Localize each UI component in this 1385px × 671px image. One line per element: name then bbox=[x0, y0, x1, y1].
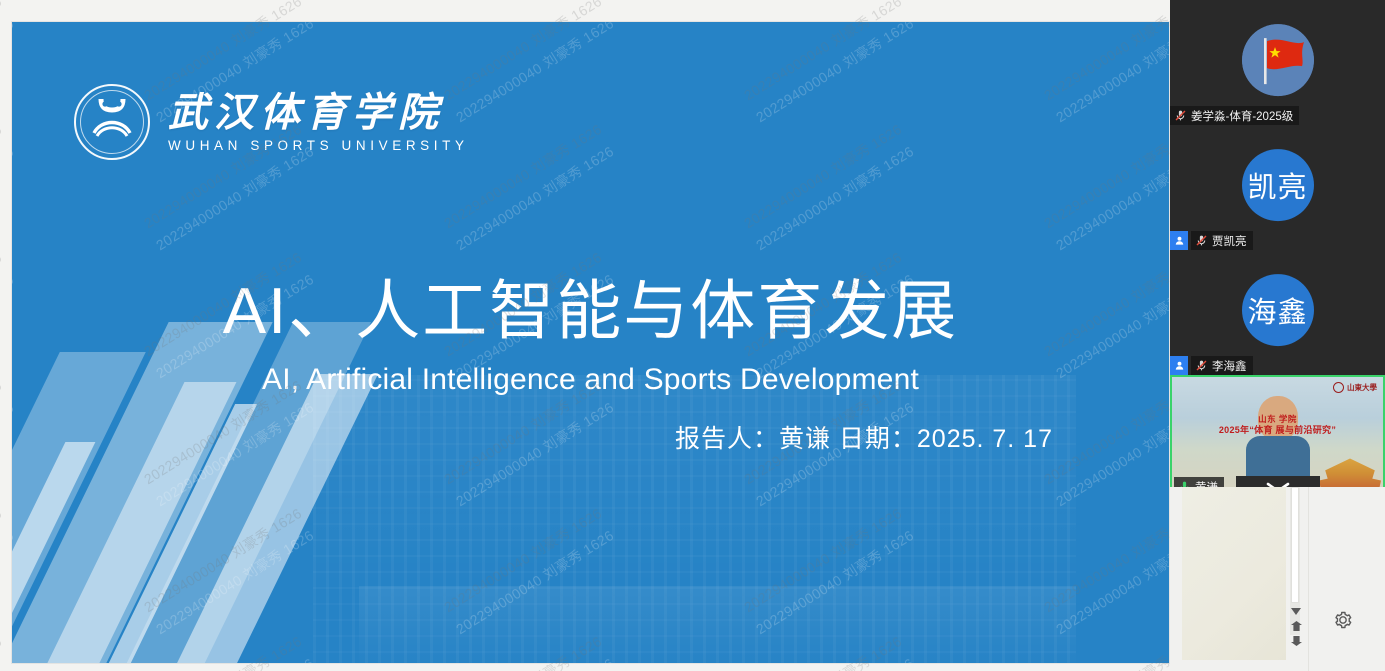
participant-name: 李海鑫 bbox=[1212, 358, 1247, 374]
person-badge-icon bbox=[1170, 356, 1188, 375]
document-preview-strip[interactable] bbox=[1182, 487, 1286, 660]
settings-button[interactable] bbox=[1330, 607, 1356, 633]
avatar-initials: 凯亮 bbox=[1247, 164, 1307, 206]
scroll-down-button[interactable] bbox=[1290, 605, 1303, 617]
participant-name-chip: 姜学淼-体育-2025级 bbox=[1170, 106, 1299, 125]
scroll-down-icon bbox=[1290, 607, 1302, 616]
participant-tile[interactable]: 凯亮 贾凯亮 bbox=[1170, 125, 1385, 250]
shared-content-stage[interactable]: 武汉体育学院 WUHAN SPORTS UNIVERSITY AI、人工智能与体… bbox=[0, 0, 1170, 671]
slide-subtitle: AI, Artificial Intelligence and Sports D… bbox=[12, 363, 1169, 397]
participant-name-bar: 李海鑫 bbox=[1170, 356, 1253, 375]
user-avatar-icon: 海鑫 bbox=[1242, 274, 1314, 346]
participant-name-bar: 姜学淼-体育-2025级 bbox=[1170, 106, 1299, 125]
slide-title-block: AI、人工智能与体育发展 AI, Artificial Intelligence… bbox=[12, 274, 1169, 455]
watermark-text: 202294000040 刘豪秀 1626 bbox=[0, 631, 6, 671]
video-logo-text: 山東大學 bbox=[1347, 382, 1377, 393]
shandong-university-logo: 山東大學 bbox=[1333, 382, 1377, 393]
presentation-slide[interactable]: 武汉体育学院 WUHAN SPORTS UNIVERSITY AI、人工智能与体… bbox=[12, 22, 1169, 663]
rail-lower-panel bbox=[1170, 487, 1385, 671]
university-name-en: WUHAN SPORTS UNIVERSITY bbox=[168, 138, 469, 153]
scrollbar-thumb[interactable] bbox=[1291, 487, 1299, 603]
watermark-text: 202294000040 刘豪秀 1626 bbox=[1052, 141, 1169, 255]
scroll-up-icon bbox=[1290, 620, 1303, 632]
watermark-text: 202294000040 刘豪秀 1626 bbox=[0, 503, 6, 617]
watermark-text: 202294000040 刘豪秀 1626 bbox=[752, 141, 918, 255]
watermark-text: 202294000040 刘豪秀 1626 bbox=[752, 22, 918, 127]
university-seal-icon bbox=[74, 84, 150, 160]
university-logo: 武汉体育学院 WUHAN SPORTS UNIVERSITY bbox=[74, 84, 469, 160]
participant-rail[interactable]: 姜学淼-体育-2025级 凯亮 bbox=[1170, 0, 1385, 671]
participant-name-chip: 李海鑫 bbox=[1191, 356, 1253, 375]
watermark-text: 202294000040 刘豪秀 1626 bbox=[0, 119, 6, 233]
scroll-buttons[interactable] bbox=[1288, 605, 1304, 647]
speaker-figure bbox=[1246, 396, 1310, 488]
user-avatar-icon: 凯亮 bbox=[1242, 149, 1314, 221]
page-up-button[interactable] bbox=[1290, 620, 1303, 632]
active-speaker-video-tile[interactable]: 山東大學 山东 学院 2025年“体育 展与前沿研究” 黄谦 bbox=[1170, 375, 1385, 500]
watermark-text: 202294000040 刘豪秀 1626 bbox=[0, 0, 6, 105]
page-down-icon bbox=[1290, 635, 1303, 647]
watermark-text: 202294000040 刘豪秀 1626 bbox=[1052, 22, 1169, 127]
participant-name-chip: 贾凯亮 bbox=[1191, 231, 1253, 250]
mic-muted-icon bbox=[1195, 359, 1208, 372]
slide-background-photo-foreground bbox=[359, 586, 1076, 663]
slide-byline: 报告人：黄谦 日期：2025. 7. 17 bbox=[12, 419, 1169, 455]
watermark-text: 202294000040 刘豪秀 1626 bbox=[0, 375, 6, 489]
mic-muted-icon bbox=[1195, 234, 1208, 247]
participant-tile[interactable]: 姜学淼-体育-2025级 bbox=[1170, 0, 1385, 125]
watermark-text: 202294000040 刘豪秀 1626 bbox=[12, 141, 18, 255]
avatar-initials: 海鑫 bbox=[1247, 289, 1307, 331]
page-down-button[interactable] bbox=[1290, 635, 1303, 647]
gear-icon bbox=[1333, 610, 1353, 630]
watermark-text: 202294000040 刘豪秀 1626 bbox=[452, 22, 618, 127]
page-title: AI、人工智能与体育发展 bbox=[12, 274, 1169, 349]
meeting-screen-share-window: 武汉体育学院 WUHAN SPORTS UNIVERSITY AI、人工智能与体… bbox=[0, 0, 1385, 671]
person-badge-icon bbox=[1170, 231, 1188, 250]
participant-name: 贾凯亮 bbox=[1212, 233, 1247, 249]
rail-divider bbox=[1308, 487, 1309, 671]
university-name-cn: 武汉体育学院 bbox=[168, 92, 469, 134]
video-caption-line2: 2025年“体育 展与前沿研究” bbox=[1172, 423, 1383, 436]
watermark-text: 202294000040 刘豪秀 1626 bbox=[12, 22, 18, 127]
participant-name: 姜学淼-体育-2025级 bbox=[1191, 108, 1293, 124]
china-flag-avatar-icon bbox=[1242, 24, 1314, 96]
participant-name-bar: 贾凯亮 bbox=[1170, 231, 1253, 250]
participant-tile[interactable]: 海鑫 李海鑫 bbox=[1170, 250, 1385, 375]
mic-muted-icon bbox=[1174, 109, 1187, 122]
watermark-text: 202294000040 刘豪秀 1626 bbox=[0, 247, 6, 361]
watermark-text: 202294000040 刘豪秀 1626 bbox=[452, 141, 618, 255]
